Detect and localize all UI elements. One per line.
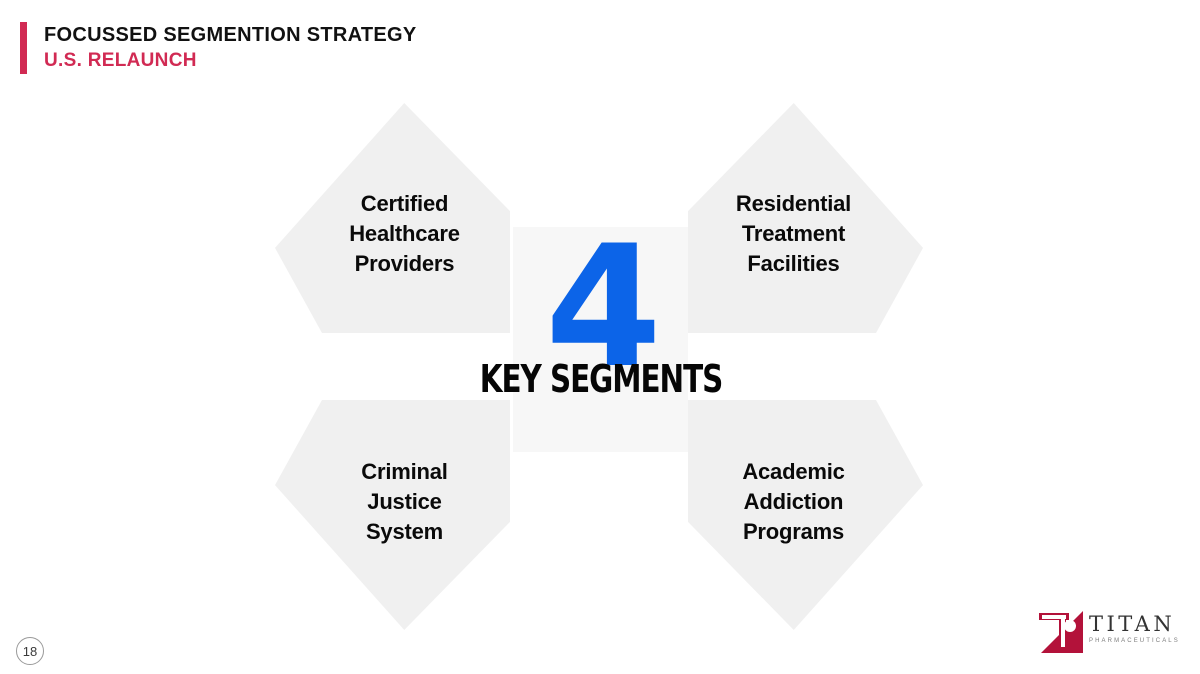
segment-academic-addiction-programs[interactable]: Academic Addiction Programs — [688, 400, 923, 630]
logo-tagline: PHARMACEUTICALS — [1089, 637, 1189, 646]
segment-label: Residential Treatment Facilities — [676, 189, 911, 279]
slide: FOCUSSED SEGMENTION STRATEGY U.S. RELAUN… — [0, 0, 1200, 674]
logo-name: TITAN — [1089, 613, 1189, 635]
company-logo: TITAN PHARMACEUTICALS — [1037, 607, 1189, 661]
slide-header: FOCUSSED SEGMENTION STRATEGY U.S. RELAUN… — [20, 22, 417, 74]
segments-diagram: Certified Healthcare Providers Residenti… — [255, 95, 945, 635]
segment-label-line-3: System — [287, 517, 522, 547]
segment-certified-healthcare-providers[interactable]: Certified Healthcare Providers — [275, 103, 510, 333]
segment-label-line-3: Providers — [287, 249, 522, 279]
page-subtitle: U.S. RELAUNCH — [44, 48, 417, 74]
segment-label-line-1: Criminal — [287, 457, 522, 487]
title-block: FOCUSSED SEGMENTION STRATEGY U.S. RELAUN… — [44, 22, 417, 74]
segment-label-line-3: Facilities — [676, 249, 911, 279]
accent-bar — [20, 22, 27, 74]
segment-label: Criminal Justice System — [287, 457, 522, 547]
page-number-badge: 18 — [16, 637, 44, 665]
segment-label: Certified Healthcare Providers — [287, 189, 522, 279]
titan-triangle-icon — [1037, 609, 1085, 655]
segment-residential-treatment-facilities[interactable]: Residential Treatment Facilities — [688, 103, 923, 333]
page-title: FOCUSSED SEGMENTION STRATEGY — [44, 22, 417, 48]
segment-label-line-1: Academic — [676, 457, 911, 487]
center-caption: KEY SEGMENTS — [475, 357, 726, 401]
segment-label-line-1: Certified — [287, 189, 522, 219]
segment-label-line-1: Residential — [676, 189, 911, 219]
segment-label-line-2: Justice — [287, 487, 522, 517]
segment-label-line-2: Healthcare — [287, 219, 522, 249]
page-number: 18 — [23, 644, 37, 659]
segment-label-line-2: Treatment — [676, 219, 911, 249]
segment-label-line-3: Programs — [676, 517, 911, 547]
segment-criminal-justice-system[interactable]: Criminal Justice System — [275, 400, 510, 630]
segment-label: Academic Addiction Programs — [676, 457, 911, 547]
segment-label-line-2: Addiction — [676, 487, 911, 517]
logo-wordmark: TITAN PHARMACEUTICALS — [1089, 613, 1189, 646]
